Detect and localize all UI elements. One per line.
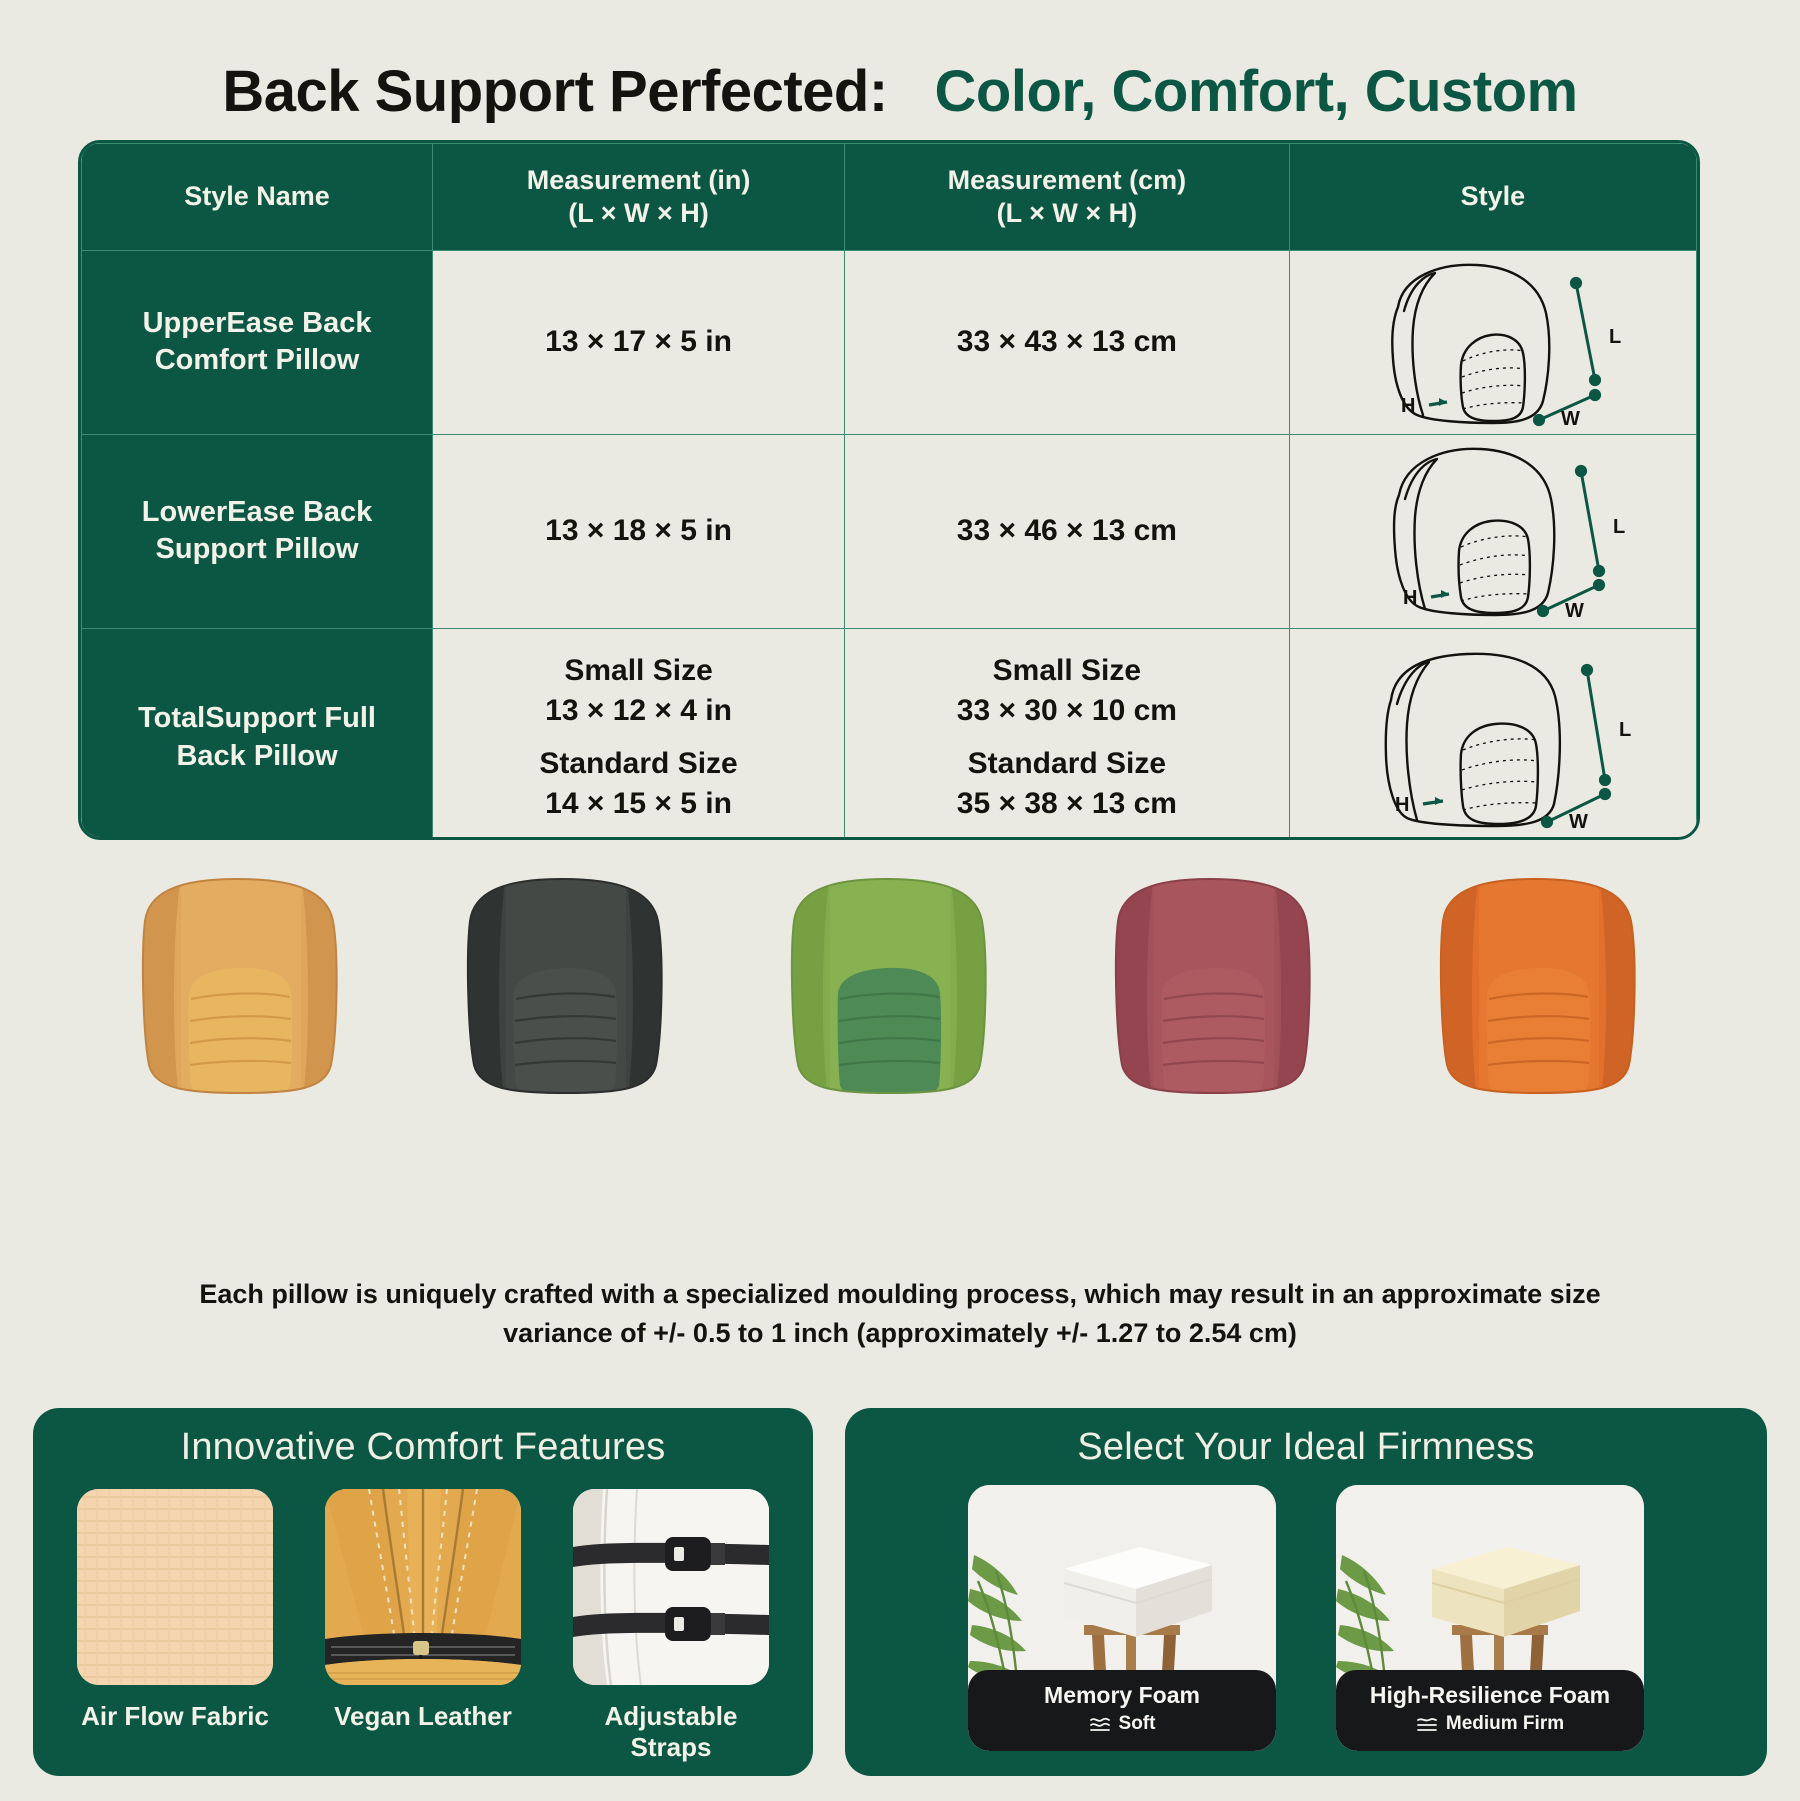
firmness-option-memory-foam[interactable]: Memory Foam Soft	[968, 1485, 1276, 1751]
features-list: Air Flow Fabric	[33, 1489, 813, 1763]
column-header-style-name: Style Name	[82, 144, 433, 251]
hr-foam-badge: High-Resilience Foam Medium Firm	[1336, 1670, 1644, 1751]
black-pillow-image	[450, 873, 680, 1098]
column-header-style: Style	[1289, 144, 1696, 251]
feature-label: Air Flow Fabric	[77, 1701, 273, 1732]
features-panel-title: Innovative Comfort Features	[33, 1408, 813, 1469]
row-style-name: UpperEase Back Comfort Pillow	[82, 250, 433, 434]
row-style-name: LowerEase Back Support Pillow	[82, 434, 433, 628]
table-row: LowerEase Back Support Pillow 13 × 18 × …	[82, 434, 1697, 628]
firmness-level-label: Soft	[1119, 1713, 1156, 1735]
lower-back-pillow-diagram: L W H	[1343, 439, 1643, 624]
row-style-illustration: L W H	[1289, 250, 1696, 434]
spec-table-head: Style Name Measurement (in) (L × W × H) …	[82, 144, 1697, 251]
green-pillow	[774, 873, 1004, 1098]
dim-label-w: W	[1565, 600, 1584, 622]
leather-stitching-closeup-icon	[325, 1489, 521, 1685]
page-title-primary: Back Support Perfected:	[222, 59, 887, 124]
firmness-options: Memory Foam Soft	[845, 1485, 1767, 1751]
row-measurement-inches: 13 × 17 × 5 in	[433, 250, 845, 434]
table-row: TotalSupport Full Back Pillow Small Size…	[82, 628, 1697, 840]
wave-medium-icon	[1416, 1716, 1438, 1732]
spec-table-container: Style Name Measurement (in) (L × W × H) …	[78, 140, 1700, 840]
row-measurement-cm: Small Size 33 × 30 × 10 cm Standard Size…	[845, 628, 1290, 840]
column-header-measurement-cm: Measurement (cm) (L × W × H)	[845, 144, 1290, 251]
firmness-level-label: Medium Firm	[1446, 1713, 1564, 1735]
firmness-level: Soft	[976, 1713, 1268, 1735]
pillow-color-row	[78, 858, 1700, 1098]
full-back-pillow-diagram: L W H	[1343, 640, 1643, 835]
spec-table-body: UpperEase Back Comfort Pillow 13 × 17 × …	[82, 250, 1697, 840]
maroon-pillow	[1098, 873, 1328, 1098]
column-header-measurement-in: Measurement (in) (L × W × H)	[433, 144, 845, 251]
innovative-comfort-features-panel: Innovative Comfort Features Air	[33, 1408, 813, 1776]
row-measurement-cm: 33 × 43 × 13 cm	[845, 250, 1290, 434]
row-style-illustration: L W H	[1289, 628, 1696, 840]
leather-stitching-closeup	[325, 1489, 521, 1685]
dim-label-w: W	[1569, 811, 1588, 833]
tan-pillow	[125, 873, 355, 1098]
dim-label-l: L	[1619, 719, 1631, 741]
strap-buckle-closeup-icon	[573, 1489, 769, 1685]
strap-buckle-closeup	[573, 1489, 769, 1685]
disclaimer-line-2: variance of +/- 0.5 to 1 inch (approxima…	[140, 1314, 1660, 1353]
standard-size-group-in: Standard Size 14 × 15 × 5 in	[443, 744, 834, 825]
page-title: Back Support Perfected: Color, Comfort, …	[0, 58, 1800, 125]
select-firmness-panel: Select Your Ideal Firmness	[845, 1408, 1767, 1776]
feature-label: Vegan Leather	[325, 1701, 521, 1732]
feature-air-flow-fabric[interactable]: Air Flow Fabric	[77, 1489, 273, 1763]
black-pillow	[450, 873, 680, 1098]
row-measurement-inches: Small Size 13 × 12 × 4 in Standard Size …	[433, 628, 845, 840]
table-header-row: Style Name Measurement (in) (L × W × H) …	[82, 144, 1697, 251]
feature-label: Adjustable Straps	[573, 1701, 769, 1763]
row-style-illustration: L W H	[1289, 434, 1696, 628]
spec-table: Style Name Measurement (in) (L × W × H) …	[81, 143, 1697, 840]
upper-back-pillow-diagram: L W H	[1343, 255, 1643, 430]
dim-label-h: H	[1403, 587, 1417, 609]
memory-foam-badge: Memory Foam Soft	[968, 1670, 1276, 1751]
firmness-level: Medium Firm	[1344, 1713, 1636, 1735]
orange-pillow	[1423, 873, 1653, 1098]
fabric-weave-swatch	[77, 1489, 273, 1685]
row-style-name: TotalSupport Full Back Pillow	[82, 628, 433, 840]
wave-soft-icon	[1089, 1716, 1111, 1732]
table-row: UpperEase Back Comfort Pillow 13 × 17 × …	[82, 250, 1697, 434]
tan-pillow-image	[125, 873, 355, 1098]
firmness-name: High-Resilience Foam	[1344, 1682, 1636, 1708]
disclaimer-line-1: Each pillow is uniquely crafted with a s…	[140, 1275, 1660, 1314]
size-variance-disclaimer: Each pillow is uniquely crafted with a s…	[140, 1275, 1660, 1353]
fabric-weave-swatch-icon	[77, 1489, 273, 1685]
row-measurement-inches: 13 × 18 × 5 in	[433, 434, 845, 628]
small-size-group-in: Small Size 13 × 12 × 4 in	[443, 651, 834, 732]
dim-label-l: L	[1609, 326, 1621, 348]
standard-size-group-cm: Standard Size 35 × 38 × 13 cm	[855, 744, 1279, 825]
page-title-accent: Color, Comfort, Custom	[935, 59, 1578, 124]
small-size-group-cm: Small Size 33 × 30 × 10 cm	[855, 651, 1279, 732]
feature-vegan-leather[interactable]: Vegan Leather	[325, 1489, 521, 1763]
firmness-option-high-resilience-foam[interactable]: High-Resilience Foam Medium Firm	[1336, 1485, 1644, 1751]
firmness-name: Memory Foam	[976, 1682, 1268, 1708]
dim-label-l: L	[1613, 516, 1625, 538]
maroon-pillow-image	[1098, 873, 1328, 1098]
green-pillow-image	[774, 873, 1004, 1098]
firmness-panel-title: Select Your Ideal Firmness	[845, 1408, 1767, 1469]
row-measurement-cm: 33 × 46 × 13 cm	[845, 434, 1290, 628]
infographic-page: Back Support Perfected: Color, Comfort, …	[0, 0, 1800, 1801]
dim-label-h: H	[1395, 794, 1409, 816]
dim-label-h: H	[1401, 395, 1415, 417]
feature-adjustable-straps[interactable]: Adjustable Straps	[573, 1489, 769, 1763]
dim-label-w: W	[1561, 408, 1580, 430]
orange-pillow-image	[1423, 873, 1653, 1098]
